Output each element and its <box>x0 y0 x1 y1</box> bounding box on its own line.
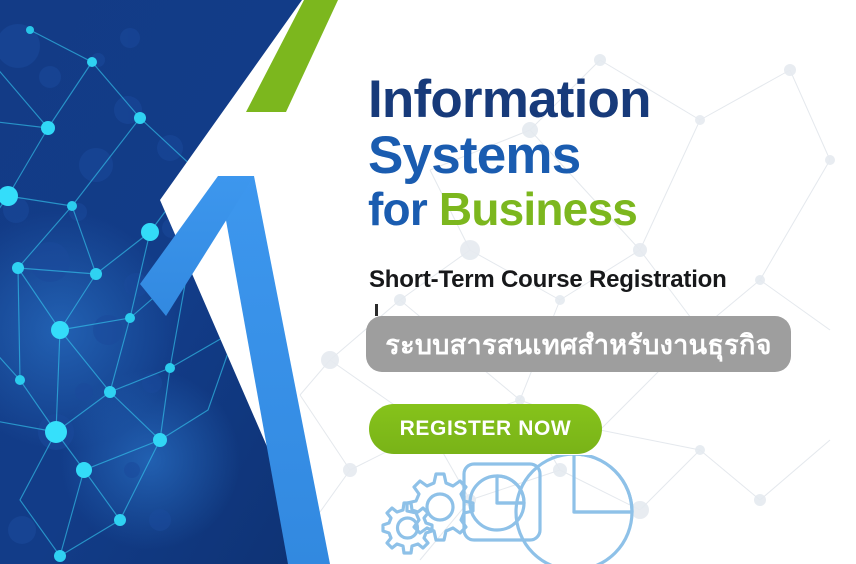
title-word-business: Business <box>439 183 637 235</box>
thai-title-band: ระบบสารสนเทศสำหรับงานธุรกิจ <box>366 316 791 372</box>
subtitle: Short-Term Course Registration <box>369 266 727 294</box>
thai-title-text: ระบบสารสนเทศสำหรับงานธุรกิจ <box>385 323 771 366</box>
title-line-systems: Systems <box>368 130 838 182</box>
title-line-for-business: for Business <box>368 187 838 232</box>
register-now-button[interactable]: REGISTER NOW <box>369 404 602 454</box>
page-title: Information Systems for Business <box>368 74 838 232</box>
course-registration-banner: Information Systems for Business Short-T… <box>0 0 856 564</box>
title-line-information: Information <box>368 74 838 126</box>
thai-band-tick-mark <box>375 304 378 316</box>
pie-chart-icon <box>516 455 632 564</box>
content-column: Information Systems for Business Short-T… <box>366 0 846 564</box>
decorative-icon-group <box>366 455 666 564</box>
title-word-for: for <box>368 183 439 235</box>
